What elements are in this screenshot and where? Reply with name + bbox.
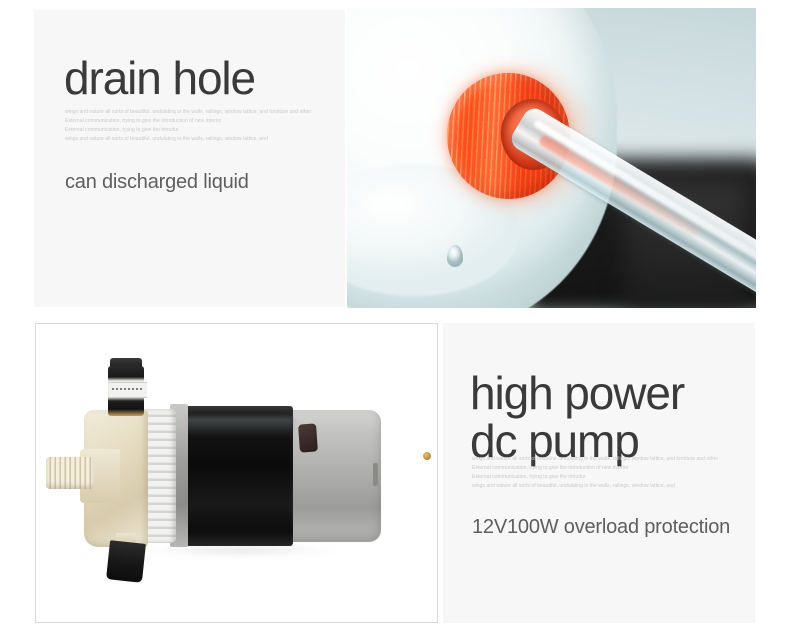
water-droplet: [447, 245, 463, 267]
page-root: drain hole wings and nature all sorts of…: [0, 0, 790, 634]
dc-pump-text-panel: high power dc pump wings and nature all …: [443, 323, 755, 623]
drain-plug-photo-scene: [347, 8, 756, 308]
microcopy-line: wings and nature all sorts of beautiful,…: [472, 455, 722, 464]
pump-brass-terminal: [423, 452, 431, 460]
microcopy-line: External communication, trying to give t…: [472, 473, 722, 482]
pump-motor-can: [180, 406, 292, 546]
pump-motor-boss: [298, 424, 318, 453]
dc-pump-photo: [35, 323, 438, 623]
pump-end-cap-slot: [373, 463, 378, 487]
pump-wire-connector: [106, 540, 146, 582]
microcopy-line: External communication, trying to give t…: [472, 464, 722, 473]
dc-pump-assembly: [36, 324, 437, 622]
microcopy-line: wings and nature all sorts of beautiful,…: [65, 108, 315, 117]
dc-pump-microcopy: wings and nature all sorts of beautiful,…: [472, 455, 722, 491]
microcopy-line: External communication, trying to give t…: [65, 117, 315, 126]
dc-pump-photo-scene: [36, 324, 437, 622]
dc-pump-subline: 12V100W overload protection: [472, 515, 730, 539]
pump-sensor-label: [109, 382, 147, 397]
pump-motor-highlight: [180, 417, 292, 437]
microcopy-line: External communication, trying to give t…: [65, 126, 315, 135]
microcopy-line: wings and nature all sorts of beautiful,…: [65, 135, 315, 144]
microcopy-line: wings and nature all sorts of beautiful,…: [472, 482, 722, 491]
drain-plug-photo: [347, 8, 756, 308]
dc-pump-headline: high power dc pump: [470, 369, 684, 465]
drain-hole-headline: drain hole: [64, 54, 255, 102]
drain-hole-subline: can discharged liquid: [65, 170, 249, 194]
pump-threaded-inlet-port: [46, 457, 94, 490]
drain-hole-text-panel: drain hole wings and nature all sorts of…: [34, 10, 345, 307]
drain-hole-microcopy: wings and nature all sorts of beautiful,…: [65, 108, 315, 144]
